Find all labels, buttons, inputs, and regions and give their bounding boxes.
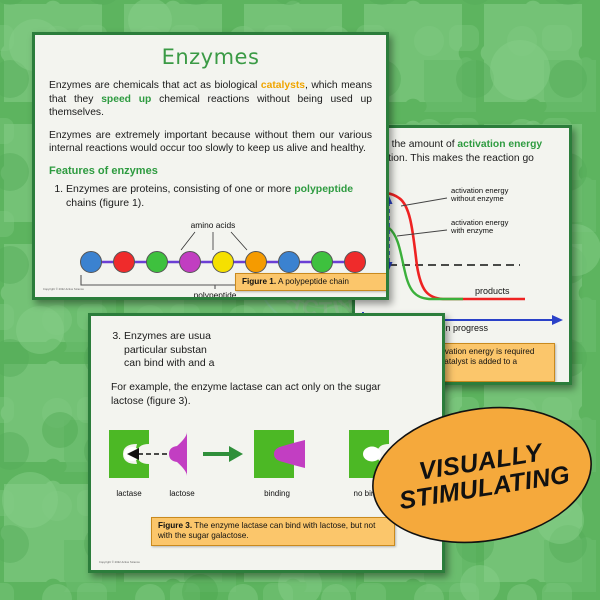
highlight-catalysts: catalysts (261, 80, 305, 91)
paragraph-activation: g the amount of activation energyction. … (383, 138, 559, 165)
amino-acid-circle (312, 252, 333, 273)
label-products: products (475, 286, 510, 296)
text-run: Enzymes are proteins, consisting of one … (66, 183, 294, 195)
text-run: lactose (figure 3). (111, 396, 191, 407)
paragraph-example: For example, the enzyme lactase can act … (107, 381, 426, 408)
text-run: ction. This makes the reaction go (383, 153, 534, 164)
copyright-notice: Copyright © 2022 Active Science (43, 288, 84, 291)
amino-acid-circle (279, 252, 300, 273)
features-list: Enzymes are proteins, consisting of one … (49, 183, 372, 210)
list-item: Enzymes are proteins, consisting of one … (66, 183, 372, 210)
subheading-features: Features of enzymes (49, 165, 372, 177)
label-lactose: lactose (169, 489, 195, 498)
amino-acid-circle (81, 252, 102, 273)
figure-1-caption: Figure 1. A polypeptide chain (235, 273, 389, 291)
substrate-lactose (169, 432, 187, 476)
amino-acid-circle (180, 252, 201, 273)
text-run: Enzymes are chemicals that act as biolog… (49, 80, 261, 91)
text-run: particular substan (124, 344, 207, 356)
page-title: Enzymes (49, 45, 372, 69)
amino-acids-label: amino acids (191, 220, 236, 230)
amino-acid-circle (246, 252, 267, 273)
amino-acid-circle (213, 252, 234, 273)
paragraph-importance: Enzymes are extremely important because … (49, 129, 372, 156)
amino-acid-circles (81, 252, 366, 273)
text-run: Enzymes are usua (124, 330, 211, 342)
figure-1-caption-text: A polypeptide chain (276, 277, 349, 286)
label-binding: binding (264, 489, 290, 498)
label-without-enzyme-line2: without enzyme (450, 194, 504, 203)
highlight-speed-up: speed up (101, 94, 151, 105)
highlight-activation-energy: activation energy (457, 139, 542, 150)
figure-3-caption-label: Figure 3. (158, 521, 192, 530)
reaction-arrow (203, 446, 243, 462)
paragraph-definition: Enzymes are chemicals that act as biolog… (49, 79, 372, 120)
slide-card-enzymes[interactable]: Enzymes Enzymes are chemicals that act a… (32, 32, 389, 300)
leader-lines (181, 232, 247, 250)
amino-acid-circle (114, 252, 135, 273)
text-run: g the amount of (383, 139, 457, 150)
text-run: chains (figure 1). (66, 197, 144, 209)
highlight-polypeptide: polypeptide (294, 183, 353, 195)
label-with-enzyme-line2: with enzyme (450, 226, 493, 235)
text-run: For example, the enzyme lactase can act … (111, 382, 381, 393)
figure-1-caption-label: Figure 1. (242, 277, 276, 286)
visually-stimulating-badge: VISUALLY STIMULATING (370, 405, 595, 545)
x-axis-arrowhead (552, 315, 563, 325)
list-item: Enzymes are usua particular substan can … (124, 330, 426, 371)
features-list-continued: Enzymes are usua particular substan can … (107, 330, 426, 371)
polypeptide-label: polypeptide (194, 290, 237, 300)
label-lactase: lactase (116, 489, 142, 498)
amino-acid-circle (345, 252, 366, 273)
copyright-notice: Copyright © 2022 Active Science (99, 561, 140, 564)
text-run: can bind with and a (124, 357, 214, 369)
amino-acid-circle (147, 252, 168, 273)
figure-3-caption: Figure 3. The enzyme lactase can bind wi… (151, 517, 395, 546)
enzyme-substrate-complex (254, 430, 305, 478)
